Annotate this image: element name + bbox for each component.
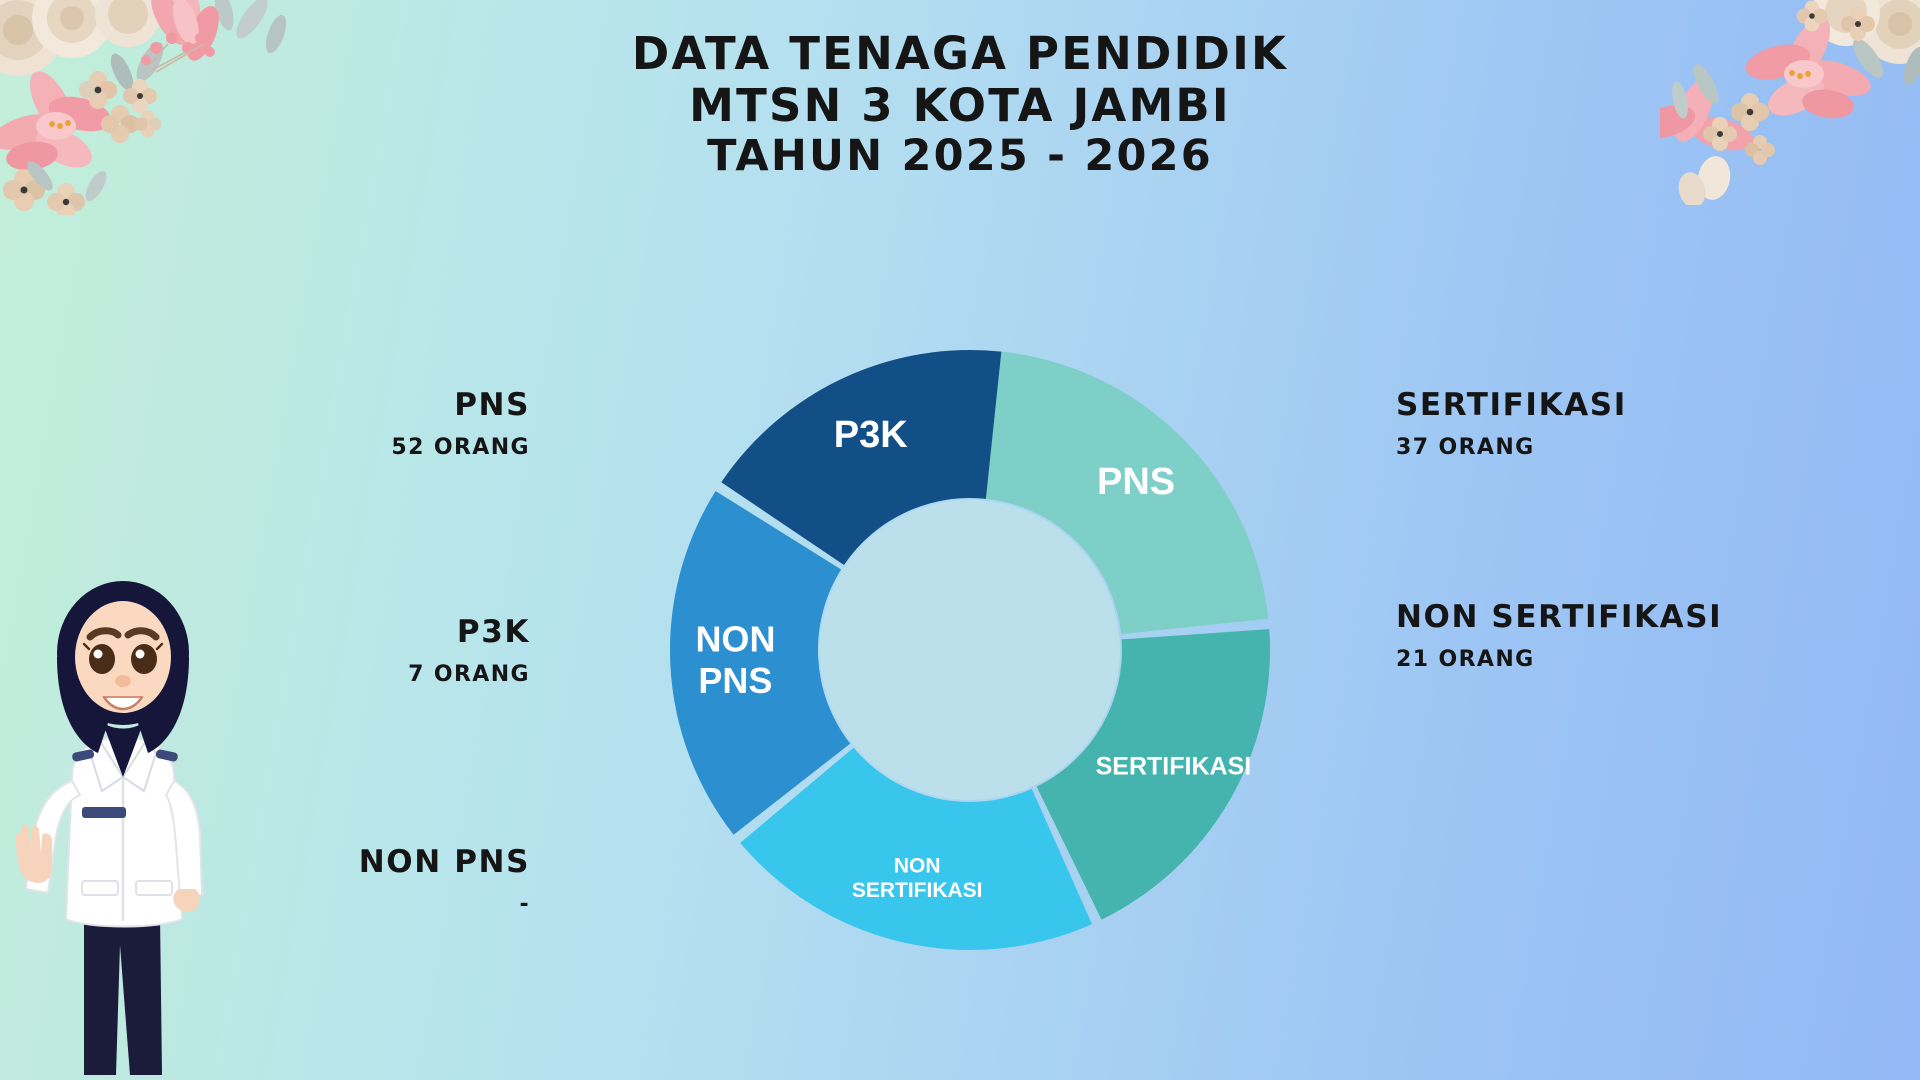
waving-teacher-icon (15, 581, 202, 1075)
teacher-illustration (10, 545, 240, 1080)
legend-non-sertifikasi-value: 21 ORANG (1396, 648, 1916, 672)
title-line-2: MTSN 3 KOTA JAMBI (0, 80, 1920, 132)
title-line-3: TAHUN 2025 - 2026 (0, 132, 1920, 182)
donut-chart: PNSSERTIFIKASINONSERTIFIKASINONPNSP3K (650, 330, 1290, 970)
legend-non-sertifikasi-label: NON SERTIFIKASI (1396, 600, 1916, 634)
donut-center-hole (820, 500, 1120, 800)
legend-item-pns: PNS 52 ORANG (120, 388, 530, 460)
legend-sertifikasi-label: SERTIFIKASI (1396, 388, 1916, 422)
donut-label-pns: PNS (1097, 461, 1175, 503)
donut-label-non-pns: NONPNS (695, 618, 775, 701)
poster-title: DATA TENAGA PENDIDIK MTSN 3 KOTA JAMBI T… (0, 28, 1920, 182)
legend-item-sertifikasi: SERTIFIKASI 37 ORANG (1396, 388, 1916, 460)
title-line-1: DATA TENAGA PENDIDIK (0, 28, 1920, 80)
legend-pns-label: PNS (120, 388, 530, 422)
legend-sertifikasi-value: 37 ORANG (1396, 436, 1916, 460)
legend-pns-value: 52 ORANG (120, 436, 530, 460)
donut-label-sertifikasi: SERTIFIKASI (1096, 752, 1252, 780)
legend-item-non-sertifikasi: NON SERTIFIKASI 21 ORANG (1396, 600, 1916, 672)
donut-label-p3k: P3K (834, 414, 908, 456)
